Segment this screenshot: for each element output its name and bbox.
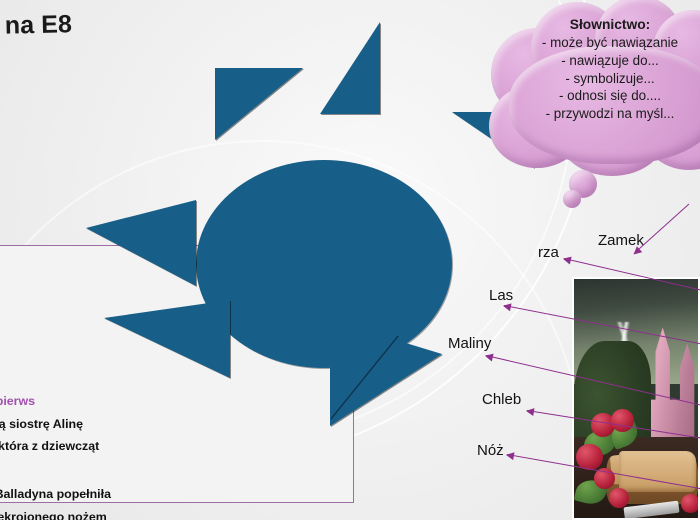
raspberry-5	[609, 488, 629, 508]
cloud-line-5: - przywodzi na myśl...	[505, 105, 700, 123]
photo-label-maliny: Maliny	[448, 335, 491, 352]
cloud-line-2: - nawiązuje do...	[505, 52, 700, 70]
raspberry-4	[594, 468, 615, 490]
photo-label-chleb: Chleb	[482, 391, 521, 408]
cloud-line-1: - może być nawiązanie	[505, 34, 700, 52]
photo-label-noz: Nóż	[477, 442, 504, 459]
cloud-line-4: - odnosi się do....	[505, 87, 700, 105]
raspberry-6	[681, 494, 700, 513]
raspberry-2	[611, 409, 633, 432]
answer-line-8: ania malin, które miało rozstrzygn o tym…	[0, 437, 341, 456]
slide-canvas: oniczny na E8 MIĘTAĆ, ODPOWIADAJĄC NA NI…	[0, 0, 700, 520]
cloud-line-3: - symbolizuje...	[505, 70, 700, 88]
answer-line-10: e stanowić nawiązanie do zbrodni, którą …	[0, 485, 341, 504]
reference-photo	[572, 277, 700, 520]
cloud-title: Słownictwo:	[505, 16, 700, 34]
triangle-shape-bottom	[330, 335, 398, 419]
triangle-shape-left	[86, 200, 196, 286]
cloud-tail-bubble-small	[563, 190, 581, 208]
raspberry-3	[576, 444, 602, 470]
thought-cloud: Słownictwo: - może być nawiązanie - nawi…	[487, 0, 700, 209]
triangle-shape-top	[320, 22, 380, 114]
answer-line-11: Mężczyzna zmarł po zjedzeniu chleba prze…	[0, 508, 341, 520]
triangle-shape-upper-left	[215, 68, 303, 212]
answer-line-9: Kirkora.	[0, 460, 341, 479]
answer-line-6: mogą być maliny. Maliny mog bolizować pi…	[0, 392, 341, 411]
photo-label-las: Las	[489, 287, 513, 304]
triangle-shape-lower-left	[104, 300, 230, 378]
bread-slice-front	[619, 451, 696, 492]
answer-line-7: órego dokonała Balladyna. Zamor ła swoją…	[0, 415, 341, 434]
photo-label-burza: rza	[538, 244, 559, 261]
photo-label-zamek: Zamek	[598, 232, 644, 249]
cloud-text-block: Słownictwo: - może być nawiązanie - nawi…	[505, 16, 700, 123]
